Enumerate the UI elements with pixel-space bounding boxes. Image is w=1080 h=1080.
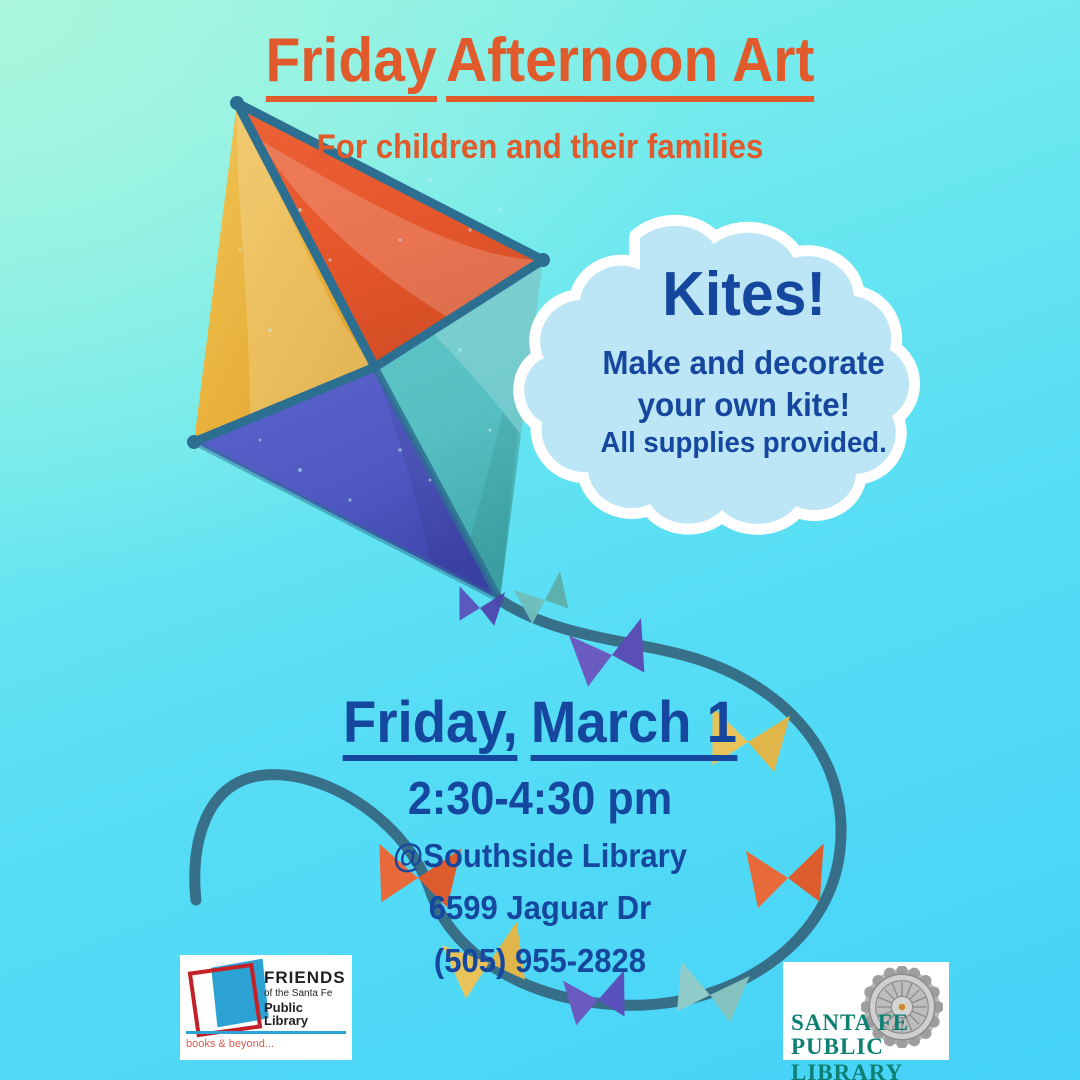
friends-logo-line-2: of the Santa Fe bbox=[264, 989, 350, 999]
page-title: FridayAfternoon Art bbox=[43, 30, 1037, 102]
callout-line-2: your own kite! bbox=[638, 384, 851, 426]
headline-word-2: Afternoon Art bbox=[446, 30, 815, 102]
headline-word-1: Friday bbox=[266, 30, 437, 102]
callout-title: Kites! bbox=[662, 264, 826, 326]
friends-logo-line-3: Public Library bbox=[264, 1001, 350, 1027]
event-address: 6599 Jaguar Dr bbox=[32, 887, 1047, 930]
cloud-callout: Kites! Make and decorate your own kite! … bbox=[548, 232, 940, 510]
callout-line-1: Make and decorate bbox=[603, 342, 885, 384]
event-date-word-2: March 1 bbox=[531, 694, 737, 761]
friends-logo-divider bbox=[186, 1031, 346, 1034]
callout-line-3: All supplies provided. bbox=[601, 425, 887, 462]
event-venue: @Southside Library bbox=[32, 835, 1047, 878]
friends-logo-line-1: FRIENDS bbox=[264, 969, 350, 986]
event-time: 2:30-4:30 pm bbox=[32, 773, 1047, 825]
kite-illustration bbox=[187, 96, 550, 600]
friends-logo-tagline: books & beyond... bbox=[186, 1038, 274, 1050]
event-details: Friday,March 1 2:30-4:30 pm @Southside L… bbox=[0, 694, 1080, 983]
poster-canvas: FridayAfternoon Art For children and the… bbox=[0, 0, 1080, 1080]
sfpl-logo-line-2: PUBLIC LIBRARY bbox=[791, 1034, 949, 1080]
friends-of-library-logo: FRIENDS of the Santa Fe Public Library b… bbox=[180, 955, 352, 1060]
page-subtitle: For children and their families bbox=[43, 128, 1037, 167]
event-date: Friday,March 1 bbox=[32, 694, 1047, 761]
red-square-icon bbox=[188, 963, 263, 1038]
sfpl-logo-line-1: SANTA FE bbox=[791, 1010, 909, 1036]
santa-fe-public-library-logo: SANTA FE PUBLIC LIBRARY bbox=[783, 962, 949, 1060]
event-date-word-1: Friday, bbox=[343, 694, 518, 761]
